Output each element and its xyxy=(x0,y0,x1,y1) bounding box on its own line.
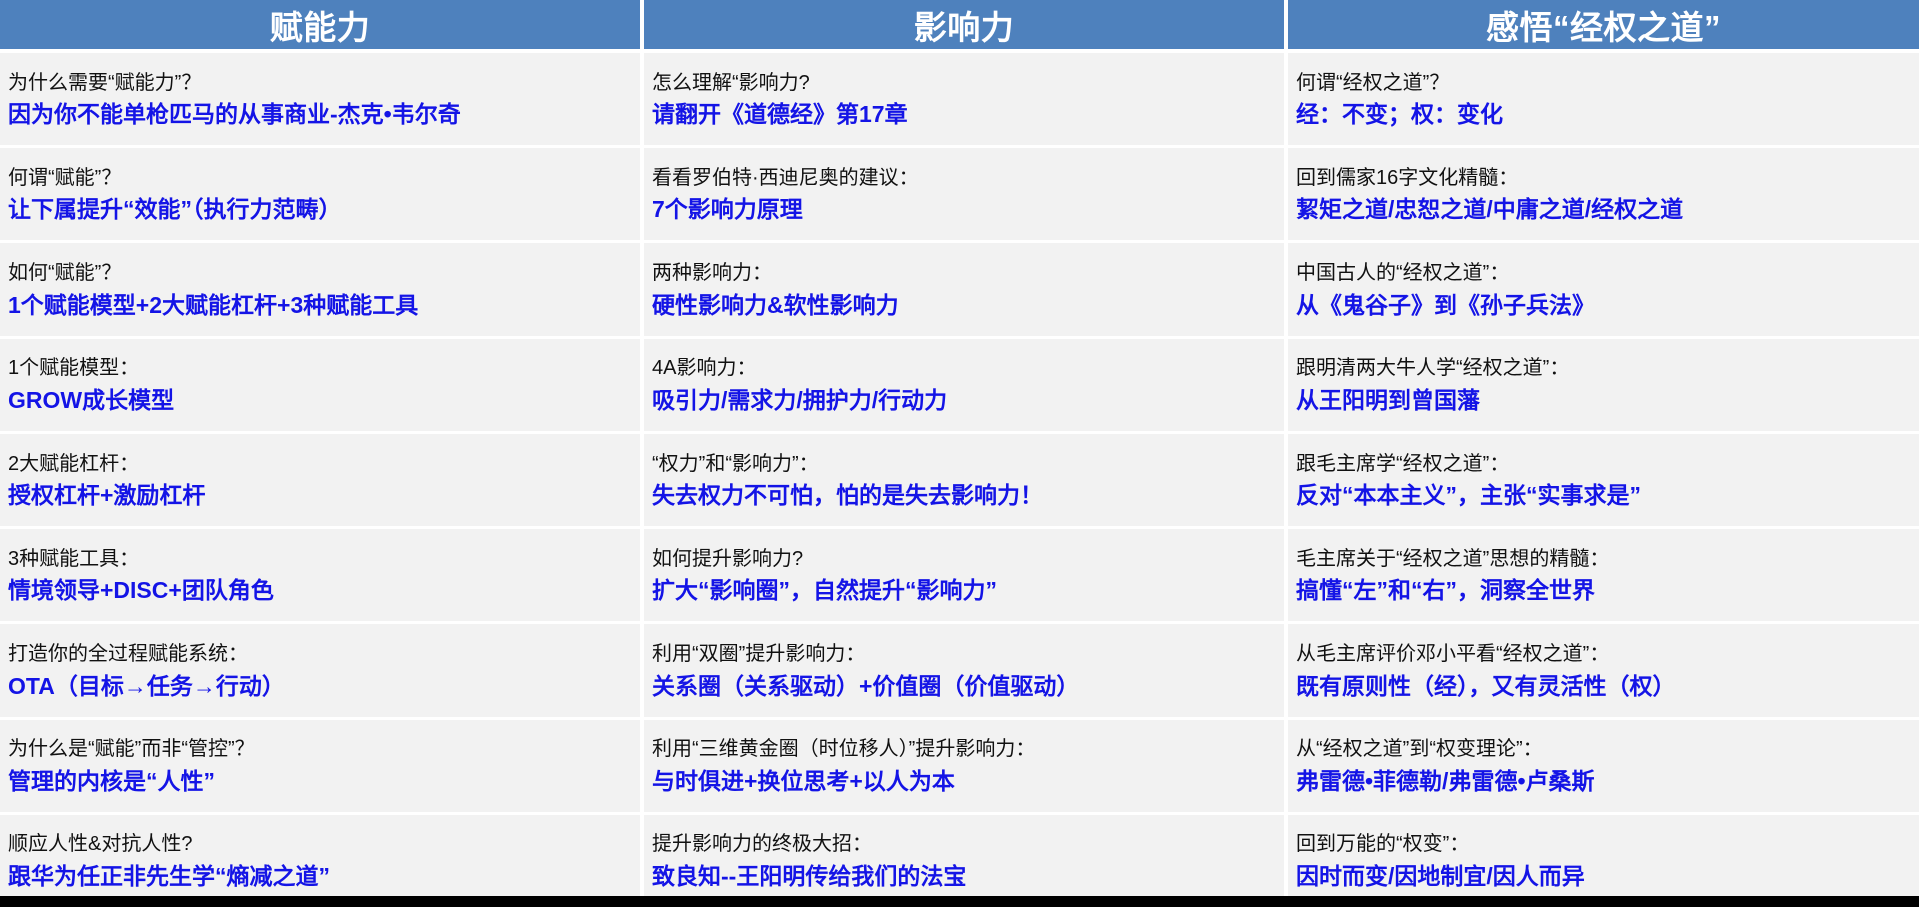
column-body-0: 为什么需要“赋能力”？ 因为你不能单枪匹马的从事商业-杰克•韦尔奇 何谓“赋能”… xyxy=(0,49,640,907)
cell-answer: 扩大“影响圈”，自然提升“影响力” xyxy=(652,575,1276,605)
list-item[interactable]: 看看罗伯特·西迪尼奥的建议： 7个影响力原理 xyxy=(644,145,1284,240)
cell-question: 何谓“经权之道”？ xyxy=(1296,71,1911,97)
column-header-1: 影响力 xyxy=(644,0,1284,49)
cell-question: 怎么理解“影响力? xyxy=(652,71,1276,97)
list-item[interactable]: 3种赋能工具： 情境领导+DISC+团队角色 xyxy=(0,526,640,621)
cell-answer: 1个赋能模型+2大赋能杠杆+3种赋能工具 xyxy=(8,290,632,320)
list-item[interactable]: 跟明清两大牛人学“经权之道”： 从王阳明到曾国藩 xyxy=(1288,336,1919,431)
list-item[interactable]: 何谓“经权之道”？ 经：不变；权：变化 xyxy=(1288,49,1919,145)
cell-question: 利用“三维黄金圈（时位移人）”提升影响力： xyxy=(652,737,1276,763)
cell-answer: 搞懂“左”和“右”，洞察全世界 xyxy=(1296,575,1911,605)
cell-question: 2大赋能杠杆： xyxy=(8,452,632,478)
list-item[interactable]: 利用“双圈”提升影响力： 关系圈（关系驱动）+价值圈（价值驱动） xyxy=(644,621,1284,716)
cell-answer: 经：不变；权：变化 xyxy=(1296,99,1911,129)
cell-question: 为什么需要“赋能力”？ xyxy=(8,71,632,97)
cell-answer: 7个影响力原理 xyxy=(652,194,1276,224)
cell-question: 提升影响力的终极大招： xyxy=(652,832,1276,858)
cell-answer: 弗雷德•菲德勒/弗雷德•卢桑斯 xyxy=(1296,766,1911,796)
cell-answer: 让下属提升“效能”（执行力范畴） xyxy=(8,194,632,224)
cell-question: 如何提升影响力? xyxy=(652,547,1276,573)
list-item[interactable]: 利用“三维黄金圈（时位移人）”提升影响力： 与时俱进+换位思考+以人为本 xyxy=(644,717,1284,812)
cell-answer: OTA（目标→任务→行动） xyxy=(8,671,632,701)
list-item[interactable]: 回到儒家16字文化精髓： 絜矩之道/忠恕之道/中庸之道/经权之道 xyxy=(1288,145,1919,240)
cell-question: 打造你的全过程赋能系统： xyxy=(8,642,632,668)
cell-question: 如何“赋能”？ xyxy=(8,261,632,287)
cell-answer: 硬性影响力&软性影响力 xyxy=(652,290,1276,320)
list-item[interactable]: 4A影响力： 吸引力/需求力/拥护力/行动力 xyxy=(644,336,1284,431)
column-influence: 影响力 怎么理解“影响力? 请翻开《道德经》第17章 看看罗伯特·西迪尼奥的建议… xyxy=(644,0,1284,907)
cell-question: 回到儒家16字文化精髓： xyxy=(1296,166,1911,192)
cell-answer: 情境领导+DISC+团队角色 xyxy=(8,575,632,605)
cell-answer: 因时而变/因地制宜/因人而异 xyxy=(1296,861,1911,891)
column-header-2: 感悟“经权之道” xyxy=(1288,0,1919,49)
list-item[interactable]: 回到万能的“权变”： 因时而变/因地制宜/因人而异 xyxy=(1288,812,1919,907)
cell-answer: 关系圈（关系驱动）+价值圈（价值驱动） xyxy=(652,671,1276,701)
cell-question: 1个赋能模型： xyxy=(8,356,632,382)
list-item[interactable]: 如何提升影响力? 扩大“影响圈”，自然提升“影响力” xyxy=(644,526,1284,621)
cell-answer: 与时俱进+换位思考+以人为本 xyxy=(652,766,1276,796)
cell-question: 从毛主席评价邓小平看“经权之道”： xyxy=(1296,642,1911,668)
list-item[interactable]: 两种影响力： 硬性影响力&软性影响力 xyxy=(644,240,1284,335)
list-item[interactable]: 跟毛主席学“经权之道”： 反对“本本主义”，主张“实事求是” xyxy=(1288,431,1919,526)
list-item[interactable]: 如何“赋能”？ 1个赋能模型+2大赋能杠杆+3种赋能工具 xyxy=(0,240,640,335)
column-header-0: 赋能力 xyxy=(0,0,640,49)
cell-answer: GROW成长模型 xyxy=(8,385,632,415)
cell-question: 跟明清两大牛人学“经权之道”： xyxy=(1296,356,1911,382)
cell-question: 利用“双圈”提升影响力： xyxy=(652,642,1276,668)
column-body-1: 怎么理解“影响力? 请翻开《道德经》第17章 看看罗伯特·西迪尼奥的建议： 7个… xyxy=(644,49,1284,907)
cell-question: 中国古人的“经权之道”： xyxy=(1296,261,1911,287)
cell-answer: 跟华为任正非先生学“熵减之道” xyxy=(8,861,632,891)
cell-question: “权力”和“影响力”： xyxy=(652,452,1276,478)
list-item[interactable]: 为什么是“赋能”而非“管控”？ 管理的内核是“人性” xyxy=(0,717,640,812)
list-item[interactable]: 怎么理解“影响力? 请翻开《道德经》第17章 xyxy=(644,49,1284,145)
cell-answer: 致良知--王阳明传给我们的法宝 xyxy=(652,861,1276,891)
list-item[interactable]: 打造你的全过程赋能系统： OTA（目标→任务→行动） xyxy=(0,621,640,716)
list-item[interactable]: 从“经权之道”到“权变理论”： 弗雷德•菲德勒/弗雷德•卢桑斯 xyxy=(1288,717,1919,812)
cell-question: 从“经权之道”到“权变理论”： xyxy=(1296,737,1911,763)
cell-answer: 既有原则性（经），又有灵活性（权） xyxy=(1296,671,1911,701)
cell-question: 跟毛主席学“经权之道”： xyxy=(1296,452,1911,478)
cell-question: 4A影响力： xyxy=(652,356,1276,382)
list-item[interactable]: 何谓“赋能”？ 让下属提升“效能”（执行力范畴） xyxy=(0,145,640,240)
list-item[interactable]: 为什么需要“赋能力”？ 因为你不能单枪匹马的从事商业-杰克•韦尔奇 xyxy=(0,49,640,145)
cell-answer: 絜矩之道/忠恕之道/中庸之道/经权之道 xyxy=(1296,194,1911,224)
three-column-comparison-board: 赋能力 为什么需要“赋能力”？ 因为你不能单枪匹马的从事商业-杰克•韦尔奇 何谓… xyxy=(0,0,1919,907)
cell-question: 回到万能的“权变”： xyxy=(1296,832,1911,858)
cell-question: 顺应人性&对抗人性? xyxy=(8,832,632,858)
cell-answer: 请翻开《道德经》第17章 xyxy=(652,99,1276,129)
cell-answer: 吸引力/需求力/拥护力/行动力 xyxy=(652,385,1276,415)
cell-answer: 管理的内核是“人性” xyxy=(8,766,632,796)
list-item[interactable]: 1个赋能模型： GROW成长模型 xyxy=(0,336,640,431)
cell-answer: 因为你不能单枪匹马的从事商业-杰克•韦尔奇 xyxy=(8,99,632,129)
list-item[interactable]: 2大赋能杠杆： 授权杠杆+激励杠杆 xyxy=(0,431,640,526)
cell-question: 两种影响力： xyxy=(652,261,1276,287)
list-item[interactable]: “权力”和“影响力”： 失去权力不可怕，怕的是失去影响力！ xyxy=(644,431,1284,526)
cell-question: 看看罗伯特·西迪尼奥的建议： xyxy=(652,166,1276,192)
column-jingquan-dao: 感悟“经权之道” 何谓“经权之道”？ 经：不变；权：变化 回到儒家16字文化精髓… xyxy=(1288,0,1919,907)
cell-answer: 从王阳明到曾国藩 xyxy=(1296,385,1911,415)
bottom-edge-bar xyxy=(0,896,1919,907)
list-item[interactable]: 中国古人的“经权之道”： 从《鬼谷子》到《孙子兵法》 xyxy=(1288,240,1919,335)
cell-answer: 授权杠杆+激励杠杆 xyxy=(8,480,632,510)
cell-question: 毛主席关于“经权之道”思想的精髓： xyxy=(1296,547,1911,573)
cell-answer: 失去权力不可怕，怕的是失去影响力！ xyxy=(652,480,1276,510)
cell-question: 何谓“赋能”？ xyxy=(8,166,632,192)
list-item[interactable]: 顺应人性&对抗人性? 跟华为任正非先生学“熵减之道” xyxy=(0,812,640,907)
cell-question: 为什么是“赋能”而非“管控”？ xyxy=(8,737,632,763)
list-item[interactable]: 从毛主席评价邓小平看“经权之道”： 既有原则性（经），又有灵活性（权） xyxy=(1288,621,1919,716)
cell-question: 3种赋能工具： xyxy=(8,547,632,573)
column-body-2: 何谓“经权之道”？ 经：不变；权：变化 回到儒家16字文化精髓： 絜矩之道/忠恕… xyxy=(1288,49,1919,907)
cell-answer: 从《鬼谷子》到《孙子兵法》 xyxy=(1296,290,1911,320)
column-enablement: 赋能力 为什么需要“赋能力”？ 因为你不能单枪匹马的从事商业-杰克•韦尔奇 何谓… xyxy=(0,0,640,907)
cell-answer: 反对“本本主义”，主张“实事求是” xyxy=(1296,480,1911,510)
list-item[interactable]: 毛主席关于“经权之道”思想的精髓： 搞懂“左”和“右”，洞察全世界 xyxy=(1288,526,1919,621)
list-item[interactable]: 提升影响力的终极大招： 致良知--王阳明传给我们的法宝 xyxy=(644,812,1284,907)
